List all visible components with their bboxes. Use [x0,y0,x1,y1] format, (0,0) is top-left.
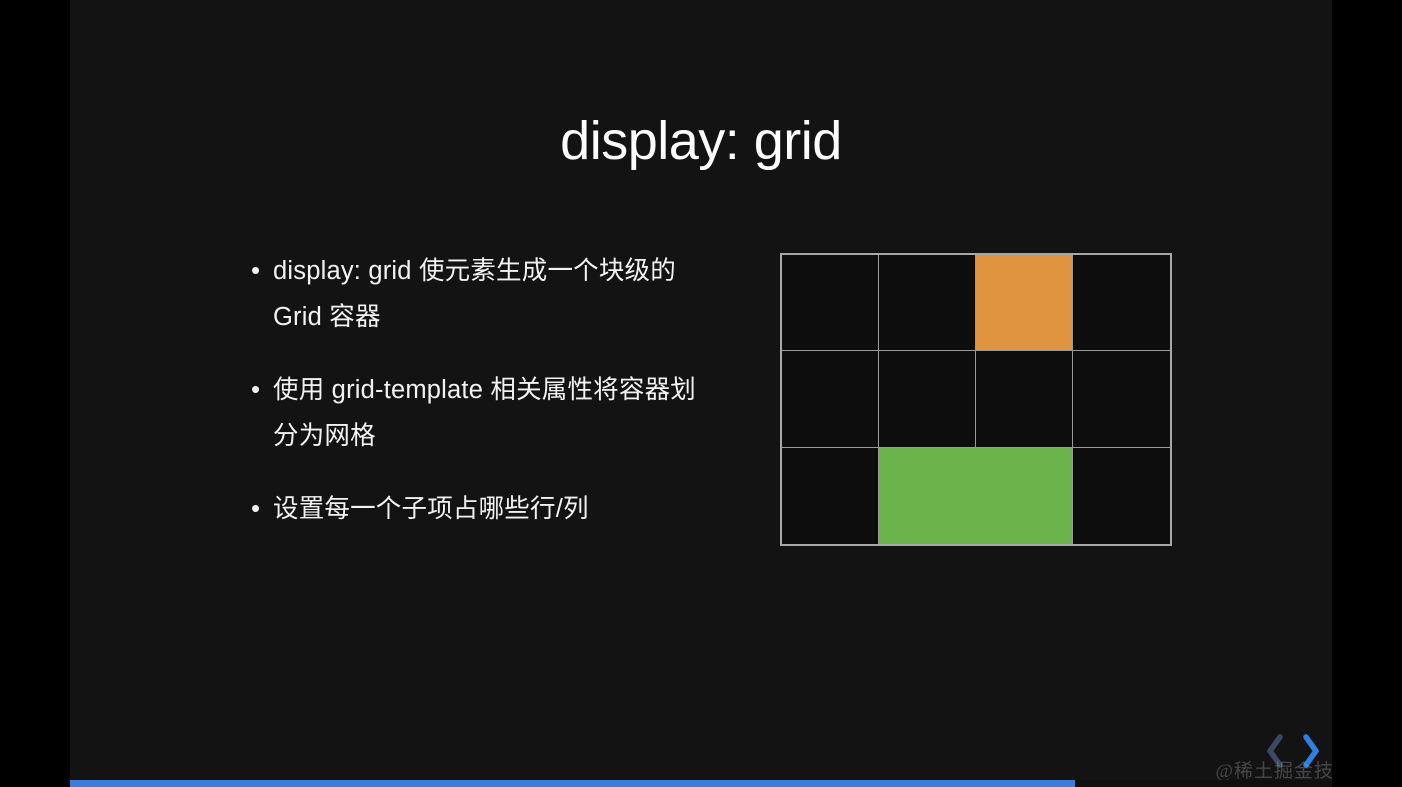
letterbox-right [1332,0,1402,787]
slide-viewer: display: grid • display: grid 使元素生成一个块级的… [0,0,1402,787]
page-title: display: grid [70,112,1332,171]
progress-bar-fill [70,780,1075,787]
grid-cell-r3c4 [1073,448,1170,544]
grid-layout-illustration [780,253,1172,546]
grid-cell-r2c3 [976,351,1073,447]
list-item: • 设置每一个子项占哪些行/列 [251,486,721,532]
grid-cell-r2c1 [782,351,879,447]
list-item: • 使用 grid-template 相关属性将容器划分为网格 [251,367,721,459]
slide-stage: display: grid • display: grid 使元素生成一个块级的… [70,0,1332,787]
progress-bar-track[interactable] [70,780,1332,787]
grid-cell-r2c2 [879,351,976,447]
bullet-point-icon: • [251,248,273,292]
grid-cell-r1c1 [782,255,879,351]
grid-cell-r1c2 [879,255,976,351]
letterbox-left [0,0,70,787]
bullet-text: 设置每一个子项占哪些行/列 [273,486,721,532]
bullet-text: 使用 grid-template 相关属性将容器划分为网格 [273,367,721,459]
bullet-text: display: grid 使元素生成一个块级的 Grid 容器 [273,248,721,340]
list-item: • display: grid 使元素生成一个块级的 Grid 容器 [251,248,721,340]
grid-cell-r3c2-c3-green [879,448,1073,544]
bullet-point-icon: • [251,367,273,411]
bullet-point-icon: • [251,486,273,530]
grid-cell-r2c4 [1073,351,1170,447]
grid-cell-r1c4 [1073,255,1170,351]
bullet-list: • display: grid 使元素生成一个块级的 Grid 容器 • 使用 … [251,248,721,559]
grid-cell-r1c3-orange [976,255,1073,351]
grid-cell-r3c1 [782,448,879,544]
